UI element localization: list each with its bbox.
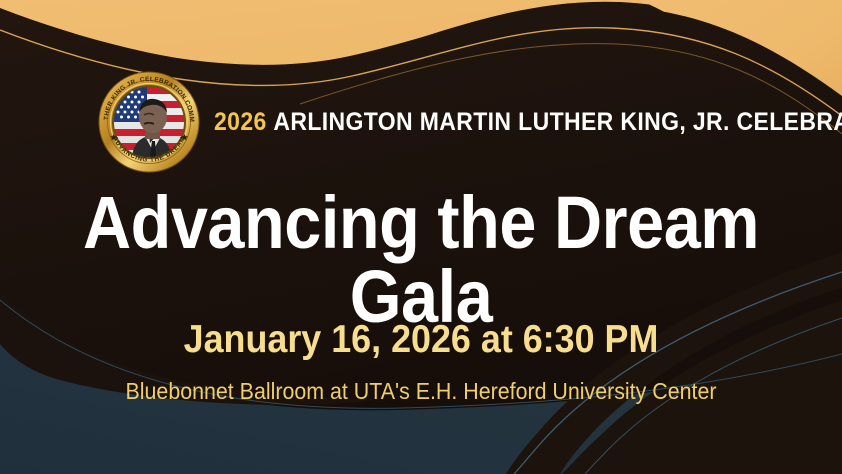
event-wordmark: 2026 ARLINGTON MARTIN LUTHER KING, JR. C… [214,110,842,135]
event-name: ARLINGTON MARTIN LUTHER KING, JR. CELEBR… [273,108,842,136]
poster-header: MARTIN LUTHER KING JR. CELEBRATION COMMI… [98,70,842,174]
event-venue: Bluebonnet Ballroom at UTA's E.H. Herefo… [29,380,812,403]
mlk-committee-seal-icon: MARTIN LUTHER KING JR. CELEBRATION COMMI… [98,71,200,173]
event-year: 2026 [214,108,267,136]
event-poster: MARTIN LUTHER KING JR. CELEBRATION COMMI… [0,0,842,474]
poster-title: Advancing the Dream Gala [42,186,800,334]
event-date: January 16, 2026 at 6:30 PM [34,320,809,359]
